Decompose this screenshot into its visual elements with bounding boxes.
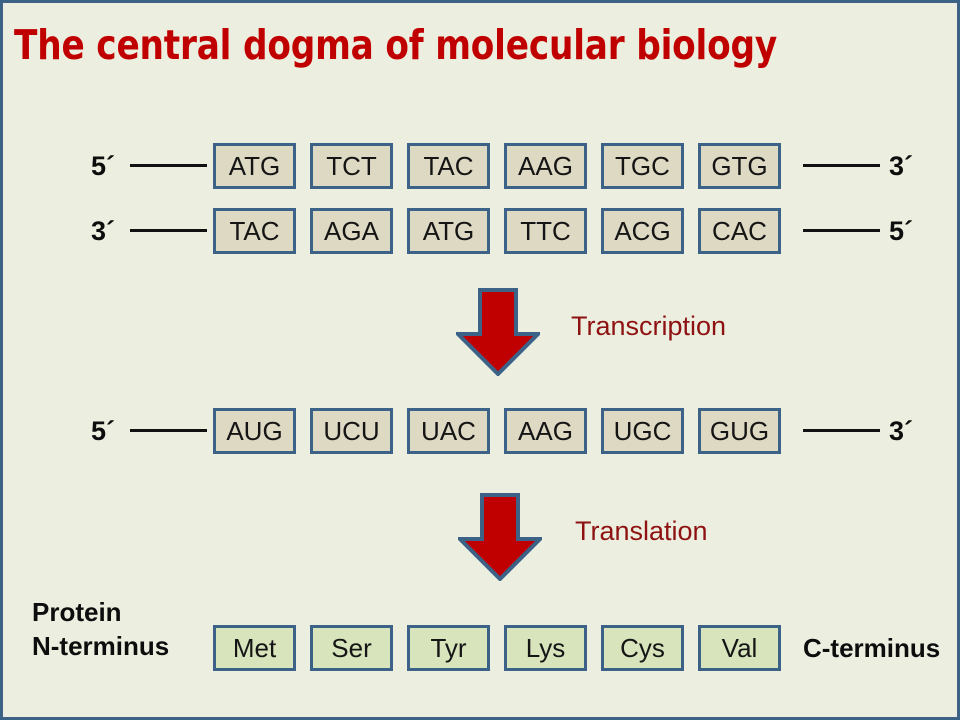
codon-box[interactable]: TGC [601,143,684,189]
protein-heading: Protein [32,595,169,629]
mrna-left-line [130,429,207,432]
codon-box[interactable]: UAC [407,408,490,454]
down-arrow-icon [456,288,540,376]
codon-box[interactable]: ATG [213,143,296,189]
dna-template-left-line [130,229,207,232]
mrna-codon-list: AUG UCU UAC AAG UGC GUG [213,408,781,454]
protein-residue-list: Met Ser Tyr Lys Cys Val [213,625,781,671]
dna-coding-strand-row: 5´ ATG TCT TAC AAG TGC GTG 3´ [3,143,960,189]
down-arrow-icon [458,493,542,581]
residue-box[interactable]: Val [698,625,781,671]
transcription-arrow [456,288,540,376]
slide-canvas: The central dogma of molecular biology 5… [0,0,960,720]
dna-coding-right-line [803,164,880,167]
dna-template-left-end-label: 3´ [91,208,115,254]
translation-arrow [458,493,542,581]
dna-template-codon-list: TAC AGA ATG TTC ACG CAC [213,208,781,254]
codon-box[interactable]: ACG [601,208,684,254]
codon-box[interactable]: AUG [213,408,296,454]
codon-box[interactable]: TTC [504,208,587,254]
transcription-label: Transcription [571,311,726,342]
codon-box[interactable]: UGC [601,408,684,454]
mrna-right-line [803,429,880,432]
codon-box[interactable]: GUG [698,408,781,454]
codon-box[interactable]: TCT [310,143,393,189]
codon-box[interactable]: TAC [213,208,296,254]
codon-box[interactable]: AAG [504,143,587,189]
dna-template-right-line [803,229,880,232]
translation-label: Translation [575,516,708,547]
dna-coding-right-end-label: 3´ [889,143,913,189]
codon-box[interactable]: ATG [407,208,490,254]
residue-box[interactable]: Lys [504,625,587,671]
codon-box[interactable]: AAG [504,408,587,454]
residue-box[interactable]: Tyr [407,625,490,671]
dna-coding-left-end-label: 5´ [91,143,115,189]
page-title: The central dogma of molecular biology [14,21,777,69]
codon-box[interactable]: AGA [310,208,393,254]
codon-box[interactable]: GTG [698,143,781,189]
mrna-left-end-label: 5´ [91,408,115,454]
dna-coding-codon-list: ATG TCT TAC AAG TGC GTG [213,143,781,189]
residue-box[interactable]: Ser [310,625,393,671]
dna-coding-left-line [130,164,207,167]
codon-box[interactable]: UCU [310,408,393,454]
mrna-right-end-label: 3´ [889,408,913,454]
residue-box[interactable]: Met [213,625,296,671]
codon-box[interactable]: TAC [407,143,490,189]
residue-box[interactable]: Cys [601,625,684,671]
mrna-row: 5´ AUG UCU UAC AAG UGC GUG 3´ [3,408,960,454]
dna-template-strand-row: 3´ TAC AGA ATG TTC ACG CAC 5´ [3,208,960,254]
dna-template-right-end-label: 5´ [889,208,913,254]
c-terminus-label: C-terminus [803,633,940,663]
codon-box[interactable]: CAC [698,208,781,254]
